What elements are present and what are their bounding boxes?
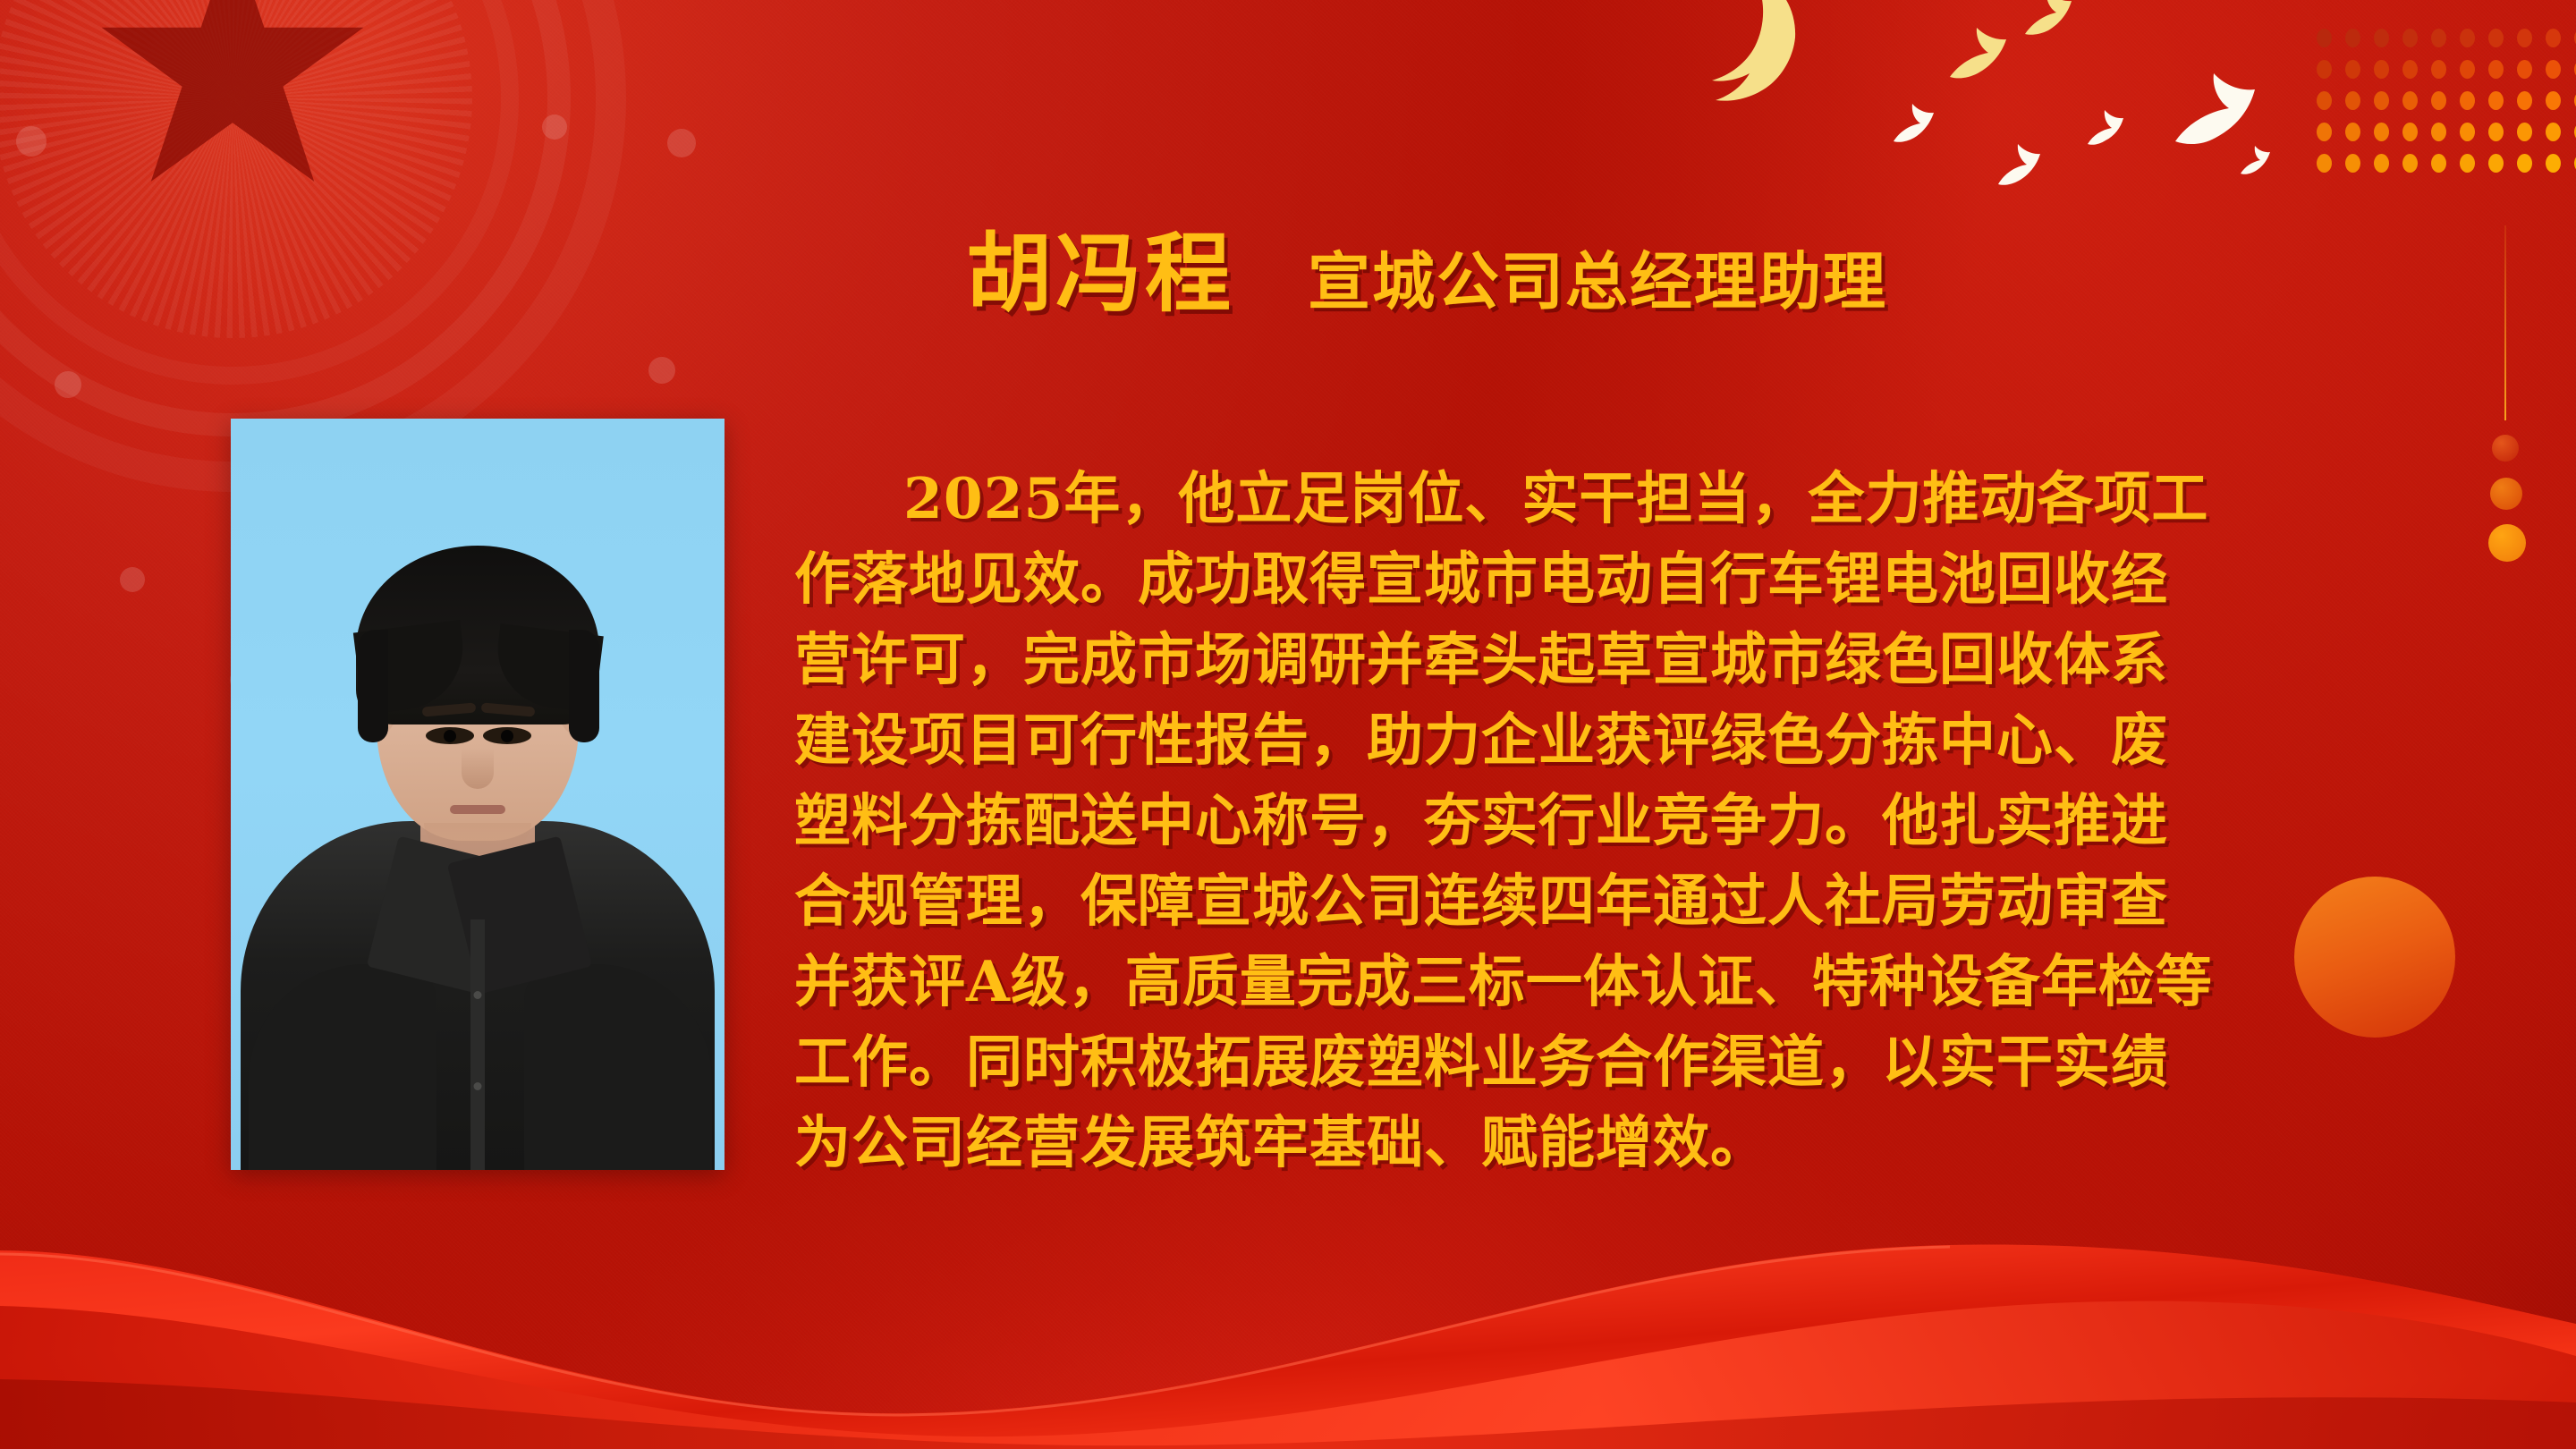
accent-bubble-large [2488,524,2526,562]
portrait-hair-side-left [358,630,388,742]
name-heading-row: 胡冯程 宣城公司总经理助理 [966,204,1887,328]
dot-grid-row [2317,123,2576,141]
biography-line: 2025年，他立足岗位、实干担当，全力推动各项工 [794,458,2252,538]
dove-gold-small-icon [1941,21,2018,86]
dove-white-mini-icon [2238,141,2275,179]
biography-line: 营许可，完成市场调研并牵头起草宣城市绿色回收体系 [794,619,2252,699]
accent-bubble-small [2492,435,2519,462]
dove-white-small-icon [2084,104,2131,150]
dove-gold-tiny-icon [2020,0,2080,41]
portrait-pupil-right [501,730,513,742]
biography-paragraph: 2025年，他立足岗位、实干担当，全力推动各项工 作落地见效。成功取得宣城市电动… [794,458,2252,1182]
biography-line: 并获评A级，高质量完成三标一体认证、特种设备年检等 [794,941,2252,1021]
dove-white-medium-icon [1889,97,1941,148]
portrait-chin-shadow [424,823,531,850]
portrait-nose [462,748,494,789]
biography-line: 为公司经营发展筑牢基础、赋能增效。 [794,1102,2252,1182]
person-name: 胡冯程 [966,204,1234,328]
biography-line: 作落地见效。成功取得宣城市电动自行车锂电池回收经 [794,538,2252,619]
portrait-mouth [450,805,505,814]
portrait-hair-side-right [569,630,599,742]
silk-ribbon-decoration [0,1145,2576,1449]
accent-bubble-medium [2490,478,2522,510]
slide-root: 胡冯程 宣城公司总经理助理 2025年，他立足岗位、实干担当，全力推动各项工 作… [0,0,2576,1449]
vertical-accent-line [2504,225,2506,420]
dove-white-large-icon [2165,61,2272,152]
biography-line: 工作。同时积极拓展废塑料业务合作渠道，以实干实绩 [794,1021,2252,1102]
dot-grid-row [2317,154,2576,173]
person-role-title: 宣城公司总经理助理 [1308,232,1887,322]
dove-gold-large-icon [1682,0,1851,104]
portrait-shirt-button [474,991,482,999]
portrait-pupil-left [444,730,456,742]
dot-grid-row [2317,60,2576,79]
biography-line: 建设项目可行性报告，助力企业获评绿色分拣中心、废 [794,699,2252,780]
dot-grid-row [2317,29,2576,47]
portrait-shirt-button [474,1082,482,1090]
dove-white-tiny-icon [1993,136,2048,191]
sun-circle-decoration [2294,877,2455,1038]
biography-line: 合规管理，保障宣城公司连续四年通过人社局劳动审查 [794,860,2252,941]
biography-line: 塑料分拣配送中心称号，夯实行业竞争力。他扎实推进 [794,780,2252,860]
dot-grid-row [2317,91,2576,110]
dot-grid-decoration [2317,29,2576,185]
portrait-shirt-placket [470,919,485,1170]
portrait-photo [231,419,724,1170]
